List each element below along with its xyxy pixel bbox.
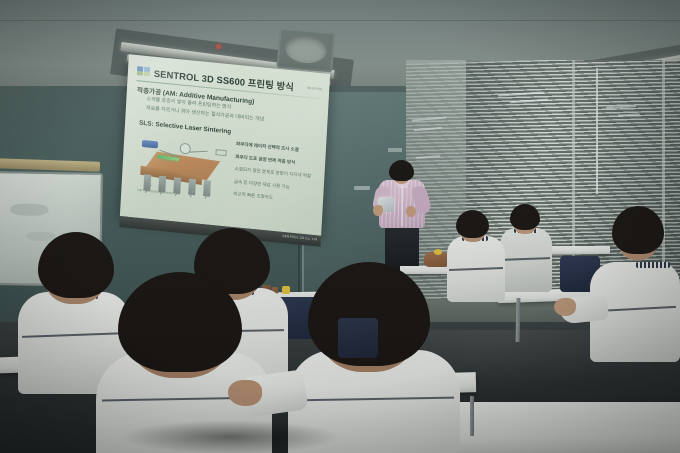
yellow-object[interactable] (434, 249, 442, 255)
presenter-right-hand (406, 206, 416, 217)
laser-source-icon (142, 140, 158, 149)
desk-leg (470, 396, 474, 436)
classroom-chair[interactable] (338, 318, 378, 358)
classroom-desk[interactable] (430, 402, 680, 453)
collar-stripe-trim (636, 262, 670, 268)
projection-screen[interactable]: SENTROL 3D SS600 프린팅 방식 SENTROL 적층가공 (AM… (120, 54, 330, 235)
door-sign (388, 148, 402, 152)
presentation-slide: SENTROL 3D SS600 프린팅 방식 SENTROL 적층가공 (AM… (120, 54, 330, 235)
presenter-trousers (385, 225, 419, 271)
slide-bullet: 금속 등 다양한 재료 사용 가능 (234, 179, 320, 193)
floor-shadow (120, 420, 340, 453)
sentrol-logo-icon (137, 66, 150, 76)
sls-process-diagram (133, 137, 232, 210)
ceiling-air-vent-icon (276, 28, 335, 73)
slide-bullet: 소결되지 않은 분체로 분말이 지지대 역할 (235, 166, 321, 180)
slide-bullet: 비교적 빠른 조형속도 (233, 191, 319, 205)
classroom-scene: SENTROL 3D SS600 프린팅 방식 SENTROL 적층가공 (AM… (0, 0, 680, 453)
smoke-sensor-icon (216, 44, 221, 49)
slide-brand-mark: SENTROL (307, 86, 323, 92)
student-hands (228, 380, 262, 406)
slide-bullet: 파우더 도포 공정 반복 적층 방식 (235, 154, 321, 168)
presenter-left-hand (373, 205, 383, 216)
door-plate (354, 186, 370, 190)
slide-heading-sls: SLS: Selective Laser Sintering (139, 120, 231, 136)
blind-pull-cord[interactable] (596, 68, 598, 194)
desk-leg (516, 298, 521, 342)
screen-footer-text: SENTROL 3D Co. Ltd (282, 233, 317, 240)
presenter-placket (401, 186, 403, 226)
slide-bullet: 파우더에 레이저 선택적 조사 소결 (236, 141, 322, 155)
student-hair (612, 206, 664, 254)
slide-bullet-list: 파우더에 레이저 선택적 조사 소결 파우더 도포 공정 반복 적층 방식 소결… (233, 141, 322, 212)
yellow-object[interactable] (282, 286, 290, 294)
ceiling-seam (0, 20, 680, 21)
presenter-hair (389, 160, 414, 181)
student-hair (510, 204, 540, 230)
lens-icon (179, 143, 191, 155)
student-hair (456, 210, 489, 238)
student-hands (554, 298, 576, 316)
